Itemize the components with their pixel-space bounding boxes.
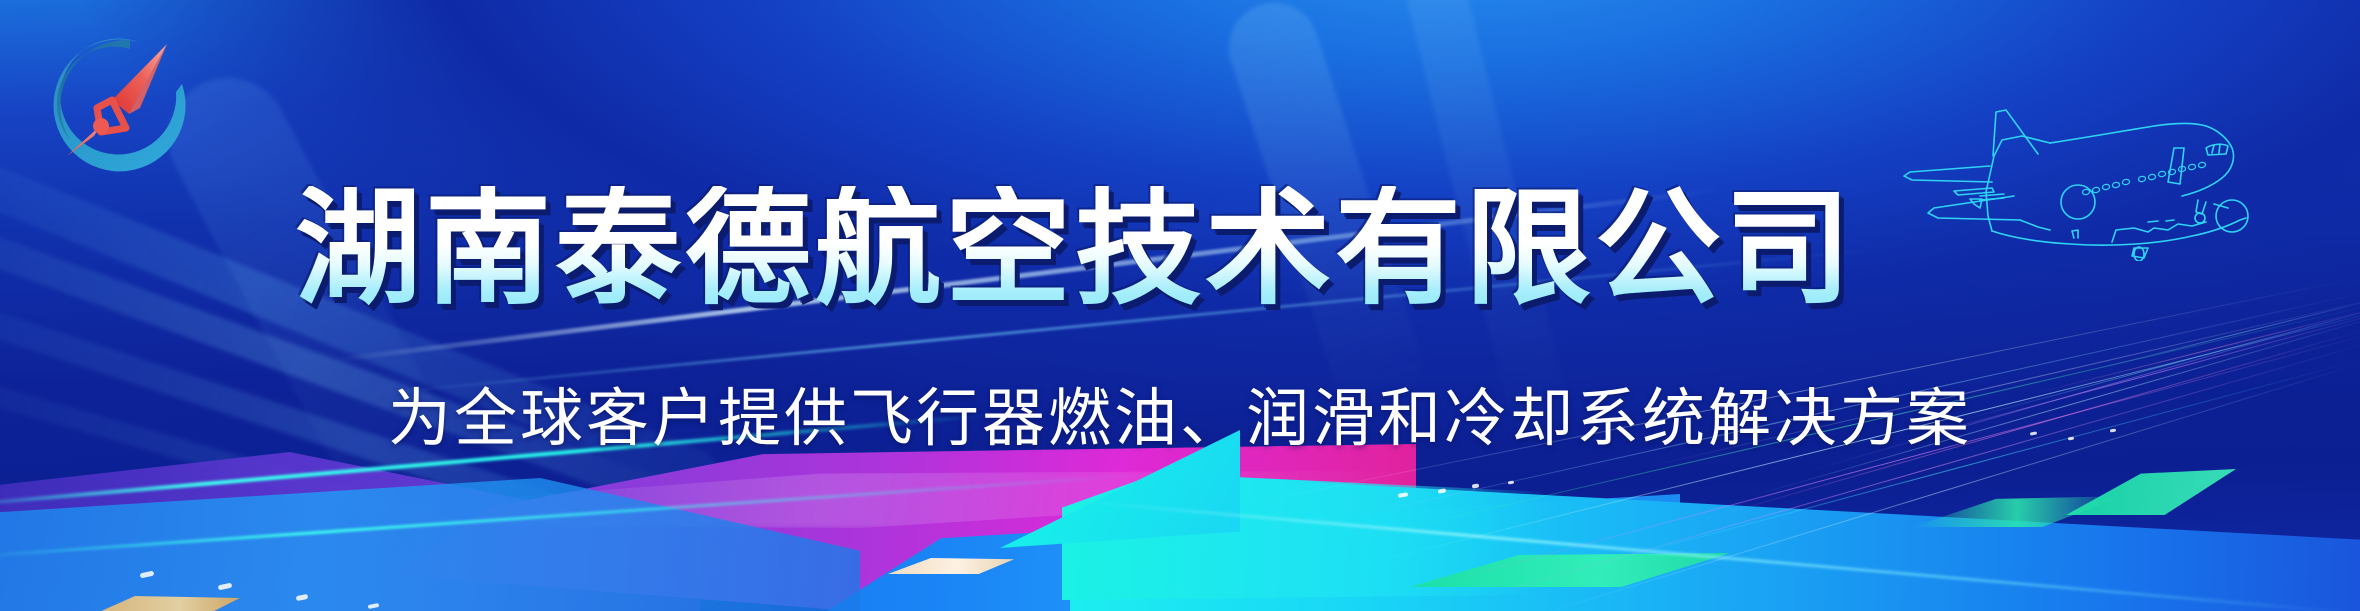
sparkle-dot [1508, 481, 1514, 485]
ribbon-blue-left [0, 478, 860, 611]
ribbon-magenta [396, 444, 1416, 611]
ribbon-green-accent [2066, 469, 2236, 515]
streak-line [1750, 314, 2360, 497]
streak-line [2030, 307, 2360, 395]
light-streak [0, 181, 785, 551]
page-title: 湖南泰德航空技术有限公司 [0, 186, 2150, 312]
streak-line [1300, 290, 2360, 529]
sparkle-dot [1398, 492, 1409, 498]
streak-line [1380, 304, 2360, 561]
company-logo[interactable] [34, 22, 204, 192]
streak-line [1640, 297, 2360, 469]
ribbon-green-accent [1410, 553, 1730, 587]
ribbon-magenta-highlight [430, 470, 1410, 528]
sparkle-dot [368, 603, 380, 609]
light-streak [380, 248, 1873, 395]
streak-line [1890, 309, 2360, 445]
page-subtitle: 为全球客户提供飞行器燃油、润滑和冷却系统解决方案 [0, 368, 2360, 459]
streak-line [1810, 305, 2360, 471]
ribbon-green-accent [1912, 495, 2122, 527]
ribbon-glow-edge [0, 474, 1137, 559]
sparkle-dot [218, 583, 233, 591]
ribbon-cream-shard [888, 558, 1014, 574]
sparkle-dot [2068, 437, 2074, 441]
ribbon-cyan-right [1070, 462, 2360, 611]
ribbon-cyan-right-bright [1062, 468, 1542, 600]
streak-line [1520, 363, 2360, 611]
streak-line [1470, 341, 2360, 601]
streak-line [1240, 278, 2357, 506]
sparkle-dot [296, 594, 309, 601]
ribbon-glow-edge [0, 413, 996, 509]
streak-line [1960, 306, 2360, 421]
light-streak [1217, 0, 1432, 418]
sparkle-dot [2030, 431, 2037, 435]
logo-needle [67, 44, 167, 156]
light-streak [330, 187, 1720, 363]
ribbon-glow-edge [1080, 500, 2355, 611]
banner-text-block: 湖南泰德航空技术有限公司 为全球客户提供飞行器燃油、润滑和冷却系统解决方案 [0, 0, 2360, 611]
streak-line [1330, 302, 2360, 546]
sparkle-dot [140, 571, 155, 579]
ribbon-cyan-wedge [1000, 430, 1240, 548]
company-banner: 湖南泰德航空技术有限公司 为全球客户提供飞行器燃油、润滑和冷却系统解决方案 [0, 0, 2360, 611]
ribbon-cream-shard [90, 596, 240, 611]
streak-line [2090, 297, 2360, 371]
streak-line [1560, 362, 2352, 575]
light-streak [0, 330, 1004, 611]
sparkle-dot [2110, 429, 2116, 433]
sparkle-dot [1472, 483, 1480, 488]
airplane-line-art [1862, 96, 2282, 261]
streak-line [1420, 329, 2360, 589]
light-streak [1401, 0, 1575, 443]
light-streak [0, 256, 918, 611]
ribbon-blue-center [560, 494, 1680, 611]
sparkle-dot [1438, 488, 1447, 493]
streak-line [1700, 327, 2360, 521]
ribbon-purple-left [0, 452, 700, 611]
